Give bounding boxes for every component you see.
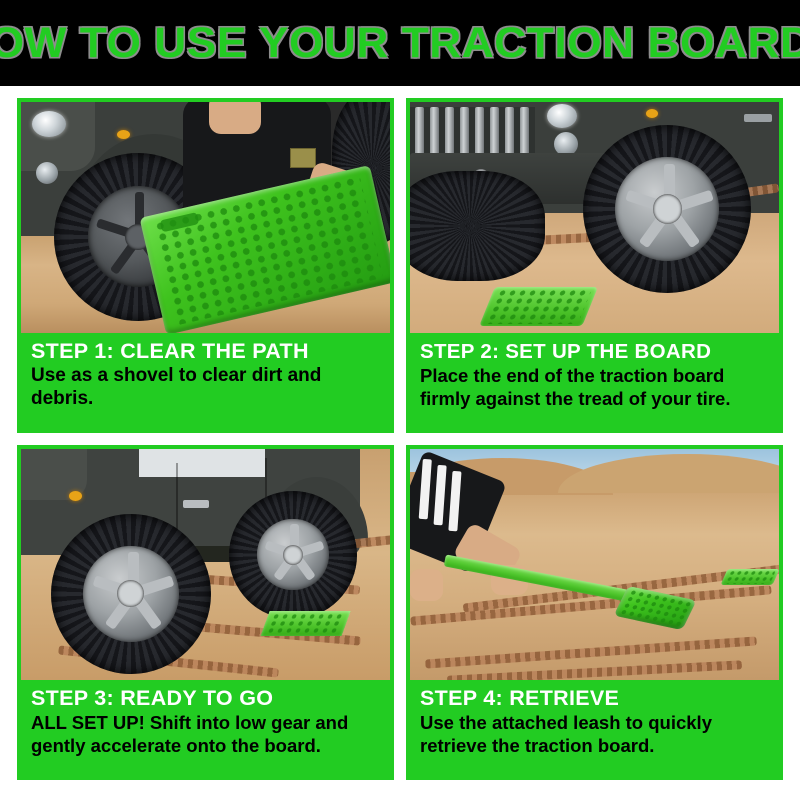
step-panel-2: STEP 2: SET UP THE BOARD Place the end o… (406, 98, 783, 433)
infographic-sheet: HOW TO USE YOUR TRACTION BOARDS (0, 0, 800, 800)
step-4-heading: STEP 4: RETRIEVE (420, 686, 771, 711)
traction-board (260, 611, 350, 636)
step-2-caption: STEP 2: SET UP THE BOARD Place the end o… (410, 333, 779, 429)
header-banner: HOW TO USE YOUR TRACTION BOARDS (0, 0, 800, 86)
step-1-photo (21, 102, 390, 333)
step-4-photo (410, 449, 779, 680)
vehicle-tire (51, 514, 211, 674)
step-panel-4: STEP 4: RETRIEVE Use the attached leash … (406, 445, 783, 780)
page-title: HOW TO USE YOUR TRACTION BOARDS (0, 19, 800, 68)
step-3-caption: STEP 3: READY TO GO ALL SET UP! Shift in… (21, 680, 390, 776)
step-3-body: ALL SET UP! Shift into low gear and gent… (31, 712, 382, 757)
step-panel-3: STEP 3: READY TO GO ALL SET UP! Shift in… (17, 445, 394, 780)
step-2-body: Place the end of the traction board firm… (420, 365, 771, 410)
step-2-photo (410, 102, 779, 333)
steps-grid: STEP 1: CLEAR THE PATH Use as a shovel t… (17, 98, 783, 780)
step-1-caption: STEP 1: CLEAR THE PATH Use as a shovel t… (21, 333, 390, 429)
step-3-photo (21, 449, 390, 680)
step-1-body: Use as a shovel to clear dirt and debris… (31, 365, 382, 410)
step-3-heading: STEP 3: READY TO GO (31, 686, 382, 711)
step-panel-1: STEP 1: CLEAR THE PATH Use as a shovel t… (17, 98, 394, 433)
step-4-body: Use the attached leash to quickly retrie… (420, 712, 771, 757)
traction-board (480, 287, 599, 326)
step-1-heading: STEP 1: CLEAR THE PATH (31, 339, 382, 364)
jeep-grille (410, 107, 535, 158)
step-4-caption: STEP 4: RETRIEVE Use the attached leash … (410, 680, 779, 776)
headlight (547, 104, 577, 128)
traction-board-secondary (720, 569, 779, 585)
vehicle-tire (583, 125, 751, 293)
step-2-heading: STEP 2: SET UP THE BOARD (420, 339, 771, 364)
